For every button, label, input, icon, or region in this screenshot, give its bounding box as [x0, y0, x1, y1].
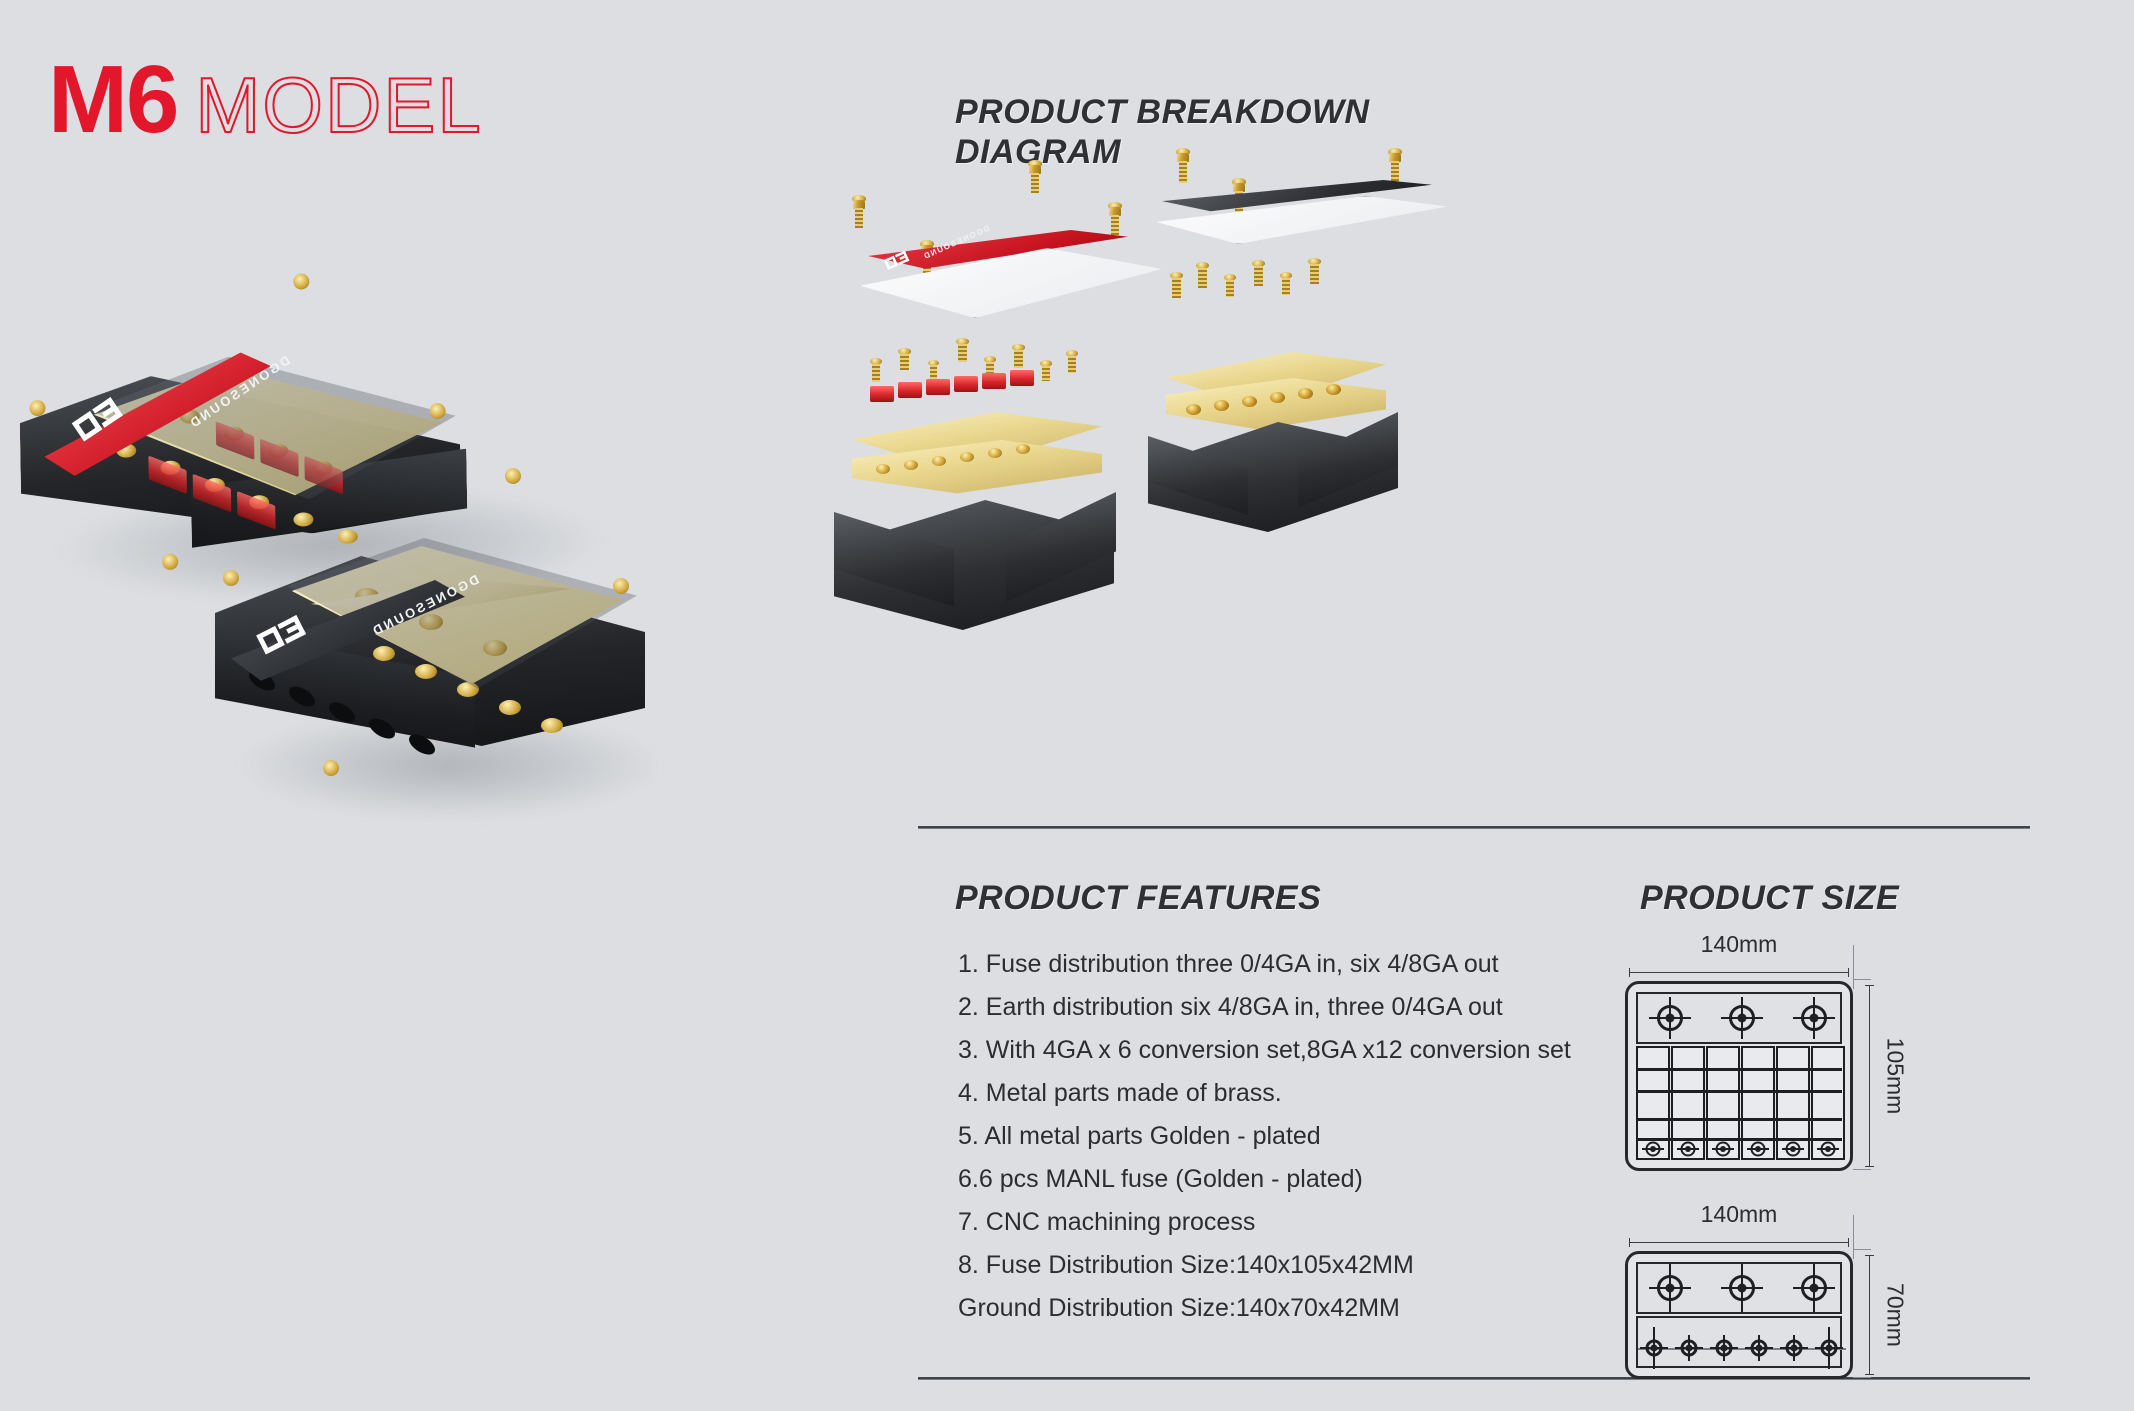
dim-width-label: 140mm [1625, 1201, 1853, 1228]
ground-terminal [1676, 1335, 1702, 1361]
terminal-crosshair [1720, 996, 1764, 1040]
product-photo-ground-distribution: DGONESOUND [215, 460, 865, 860]
dim-height-label: 70mm [1882, 1283, 1909, 1347]
drawing-fuse-distribution: 140mm [1625, 935, 1925, 1171]
ground-terminal [1816, 1335, 1842, 1361]
fuse-channel-grid [1636, 1046, 1842, 1160]
terminal-crosshair [1648, 996, 1692, 1040]
ground-terminal [1711, 1335, 1737, 1361]
breakdown-title-line1: PRODUCT BREAKDOWN [955, 92, 1475, 132]
page-title: M6 MODEL [48, 52, 483, 148]
output-terminal [1817, 1138, 1839, 1160]
output-terminal [1747, 1138, 1769, 1160]
feature-item: 6.6 pcs MANL fuse (Golden - plated) [958, 1167, 1598, 1192]
manl-fuse-set [870, 372, 1090, 402]
feature-item: 1. Fuse distribution three 0/4GA in, six… [958, 952, 1598, 977]
ground-terminal [1781, 1335, 1807, 1361]
ground-busbar-terminal-row [1182, 380, 1382, 430]
dim-width-line [1629, 1242, 1849, 1243]
terminal-crosshair [1648, 1266, 1692, 1310]
dim-height-line [1869, 1255, 1870, 1375]
ground-terminal [1641, 1335, 1667, 1361]
ground-terminal [1746, 1335, 1772, 1361]
output-terminal [1642, 1138, 1664, 1160]
ground-block-outline [1625, 1251, 1853, 1379]
feature-item: 8. Fuse Distribution Size:140x105x42MM [958, 1253, 1598, 1278]
model-code: M6 [48, 52, 177, 148]
fuse-block-outline [1625, 981, 1853, 1171]
section-header-size: PRODUCT SIZE [1640, 878, 1899, 918]
spec-sheet-page: M6 MODEL [0, 0, 2134, 1411]
feature-item: Ground Distribution Size:140x70x42MM [958, 1296, 1598, 1321]
screw-set-ground [1170, 250, 1370, 310]
output-terminal [1677, 1138, 1699, 1160]
feature-item: 5. All metal parts Golden - plated [958, 1124, 1598, 1149]
dim-height-line [1869, 985, 1870, 1167]
product-size-drawings: 140mm [1625, 935, 1925, 1407]
terminal-crosshair [1792, 996, 1836, 1040]
feature-item: 7. CNC machining process [958, 1210, 1598, 1235]
output-terminal [1782, 1138, 1804, 1160]
corner-standoffs [215, 460, 865, 860]
features-list: 1. Fuse distribution three 0/4GA in, six… [958, 952, 1598, 1339]
channel-bar [1636, 1068, 1842, 1071]
section-header-features: PRODUCT FEATURES [955, 878, 1321, 918]
drawing-ground-distribution: 140mm [1625, 1205, 1925, 1379]
dim-height-label: 105mm [1882, 1038, 1909, 1115]
feature-item: 4. Metal parts made of brass. [958, 1081, 1598, 1106]
dim-width-line [1629, 972, 1849, 973]
dim-width-label: 140mm [1625, 931, 1853, 958]
feature-item: 2. Earth distribution six 4/8GA in, thre… [958, 995, 1598, 1020]
divider-top [918, 826, 2030, 829]
terminal-crosshair [1720, 1266, 1764, 1310]
terminal-crosshair [1792, 1266, 1836, 1310]
channel-bar [1636, 1138, 1842, 1141]
output-terminal [1712, 1138, 1734, 1160]
ground-terminal-row [1636, 1316, 1842, 1368]
channel-bar [1636, 1118, 1842, 1121]
channel-bar [1636, 1090, 1842, 1093]
product-breakdown-diagram: DGONESOUND [930, 140, 2110, 830]
busbar-terminal-row [870, 438, 1100, 488]
feature-item: 3. With 4GA x 6 conversion set,8GA x12 c… [958, 1038, 1598, 1063]
model-word: MODEL [195, 66, 482, 144]
